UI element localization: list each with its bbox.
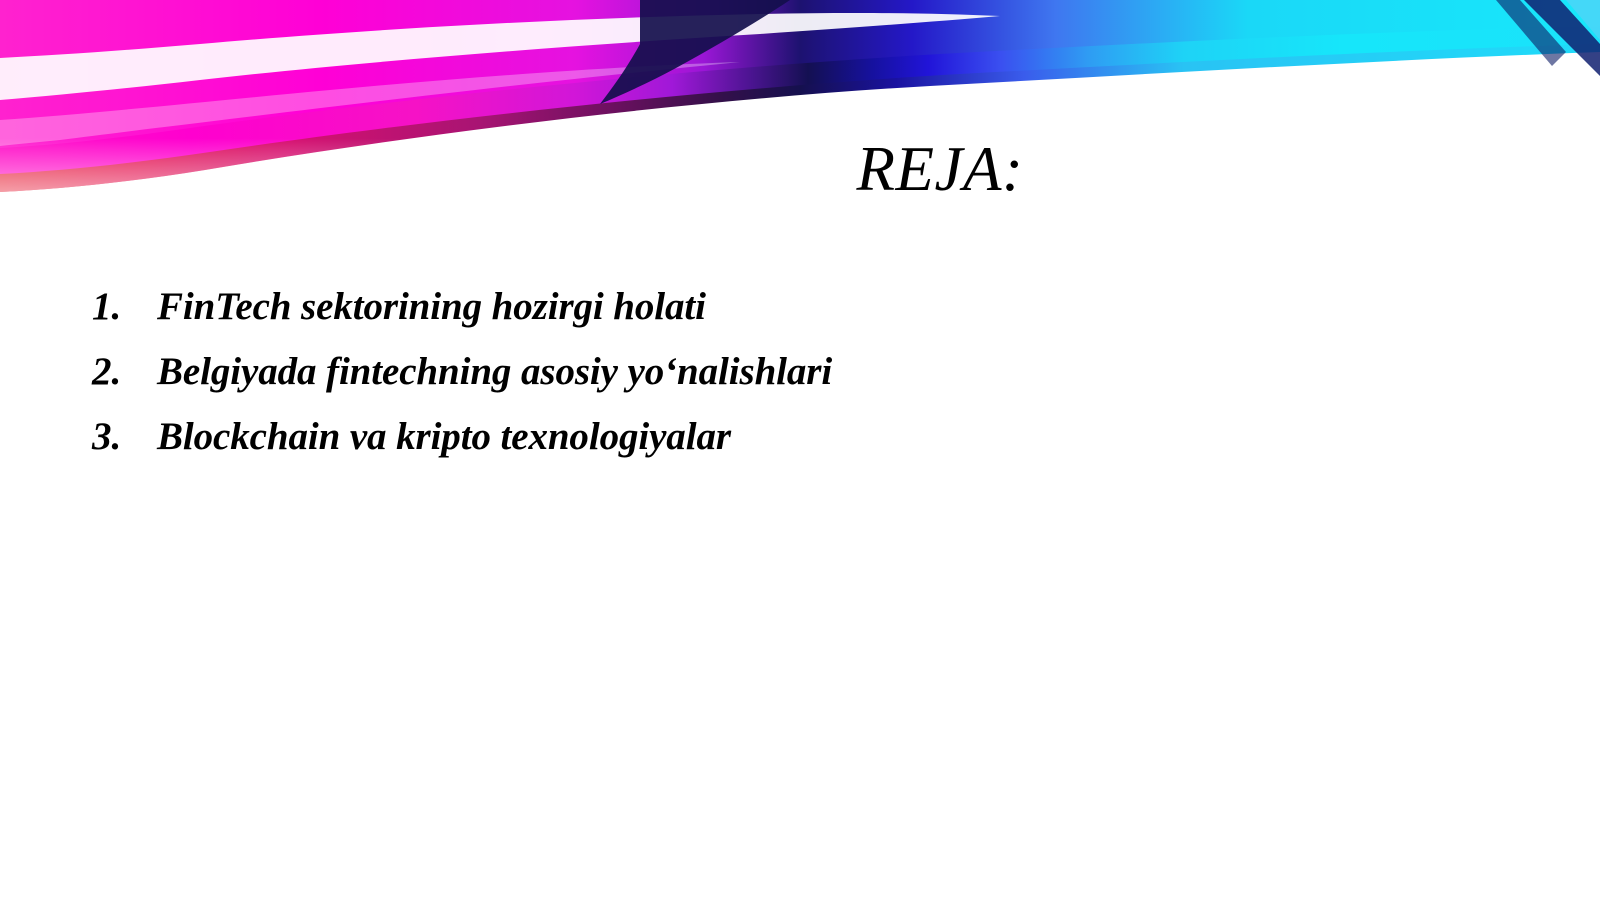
slide-title: REJA: [520,136,1360,202]
list-item-number: 3. [92,414,157,459]
list-item-number: 1. [92,284,157,329]
list-item-text: Blockchain va kripto texnologiyalar [157,414,731,459]
agenda-list: 1. FinTech sektorining hozirgi holati 2.… [92,284,1372,479]
list-item: 2. Belgiyada fintechning asosiy yoʻnalis… [92,349,1372,414]
list-item: 1. FinTech sektorining hozirgi holati [92,284,1372,349]
list-item-number: 2. [92,349,157,394]
slide-title-text: REJA: [857,136,1024,202]
list-item-text: Belgiyada fintechning asosiy yoʻnalishla… [157,349,832,394]
presentation-slide: REJA: 1. FinTech sektorining hozirgi hol… [0,0,1600,899]
list-item-text: FinTech sektorining hozirgi holati [157,284,706,329]
list-item: 3. Blockchain va kripto texnologiyalar [92,414,1372,479]
